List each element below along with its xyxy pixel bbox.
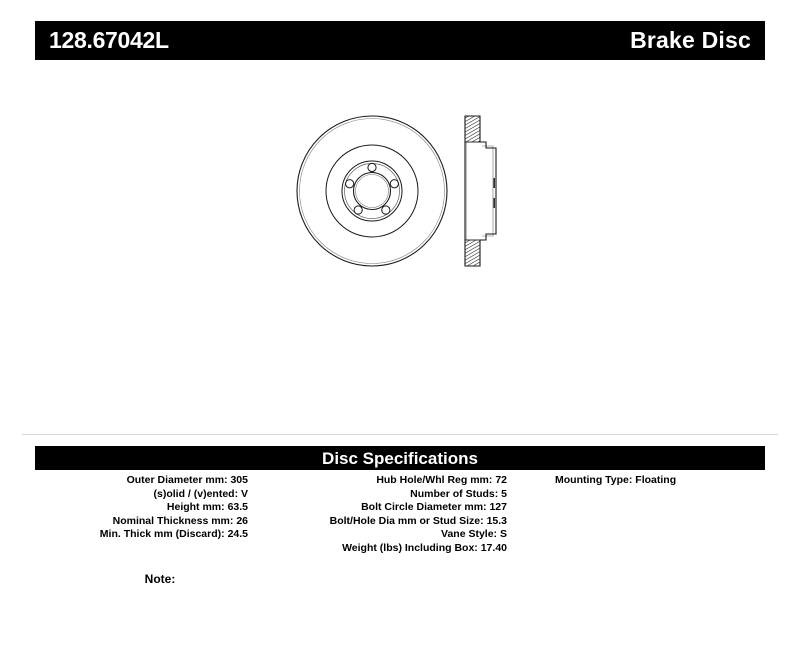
title-bar: 128.67042L Brake Disc	[35, 21, 765, 60]
spec-label: Mounting Type:	[555, 474, 635, 486]
spec-value: 72	[495, 474, 507, 486]
section-divider	[22, 434, 778, 435]
note-block: Note:	[35, 570, 285, 588]
spec-row: Mounting Type: Floating	[555, 474, 765, 488]
spec-row: Vane Style: S	[285, 528, 507, 542]
spec-row: (s)olid / (v)ented: V	[35, 488, 248, 502]
spec-row: Bolt/Hole Dia mm or Stud Size: 15.3	[285, 515, 507, 529]
spec-column-right: Mounting Type: Floating	[535, 474, 765, 488]
spec-label: Nominal Thickness mm:	[113, 515, 237, 527]
spec-section-title: Disc Specifications	[322, 450, 478, 467]
spec-label: Bolt Circle Diameter mm:	[361, 501, 489, 513]
spec-label: Number of Studs:	[410, 488, 501, 500]
spec-row: Nominal Thickness mm: 26	[35, 515, 248, 529]
spec-value: 127	[489, 501, 507, 513]
drawing-area	[0, 80, 800, 420]
spec-value: 15.3	[487, 515, 507, 527]
spec-value: 24.5	[228, 528, 248, 540]
spec-row: Min. Thick mm (Discard): 24.5	[35, 528, 248, 542]
product-type-label: Brake Disc	[630, 29, 751, 52]
spec-value: 63.5	[228, 501, 248, 513]
spec-value: 17.40	[481, 542, 507, 554]
spec-table: Outer Diameter mm: 305 (s)olid / (v)ente…	[35, 474, 765, 556]
spec-value: 305	[230, 474, 248, 486]
spec-value: S	[500, 528, 507, 540]
brake-disc-cross-section-view	[465, 116, 496, 266]
spec-label: Min. Thick mm (Discard):	[100, 528, 228, 540]
spec-value: 5	[501, 488, 507, 500]
spec-value: V	[241, 488, 248, 500]
part-number: 128.67042L	[49, 29, 169, 52]
spec-label: Outer Diameter mm:	[127, 474, 231, 486]
brake-disc-front-view	[297, 116, 447, 266]
spec-column-middle: Hub Hole/Whl Reg mm: 72 Number of Studs:…	[285, 474, 535, 556]
brake-disc-diagram	[280, 100, 520, 300]
spec-row: Hub Hole/Whl Reg mm: 72	[285, 474, 507, 488]
spec-value: Floating	[635, 474, 676, 486]
spec-value: 26	[236, 515, 248, 527]
spec-column-left: Outer Diameter mm: 305 (s)olid / (v)ente…	[35, 474, 285, 542]
spec-row: Outer Diameter mm: 305	[35, 474, 248, 488]
note-label: Note:	[145, 572, 176, 586]
spec-label: Bolt/Hole Dia mm or Stud Size:	[330, 515, 487, 527]
spec-row: Number of Studs: 5	[285, 488, 507, 502]
spec-label: (s)olid / (v)ented:	[153, 488, 241, 500]
spec-row: Weight (lbs) Including Box: 17.40	[285, 542, 507, 556]
spec-label: Weight (lbs) Including Box:	[342, 542, 481, 554]
spec-label: Height mm:	[167, 501, 228, 513]
spec-label: Hub Hole/Whl Reg mm:	[376, 474, 495, 486]
spec-section-header: Disc Specifications	[35, 446, 765, 470]
spec-row: Bolt Circle Diameter mm: 127	[285, 501, 507, 515]
spec-label: Vane Style:	[441, 528, 500, 540]
spec-row: Height mm: 63.5	[35, 501, 248, 515]
